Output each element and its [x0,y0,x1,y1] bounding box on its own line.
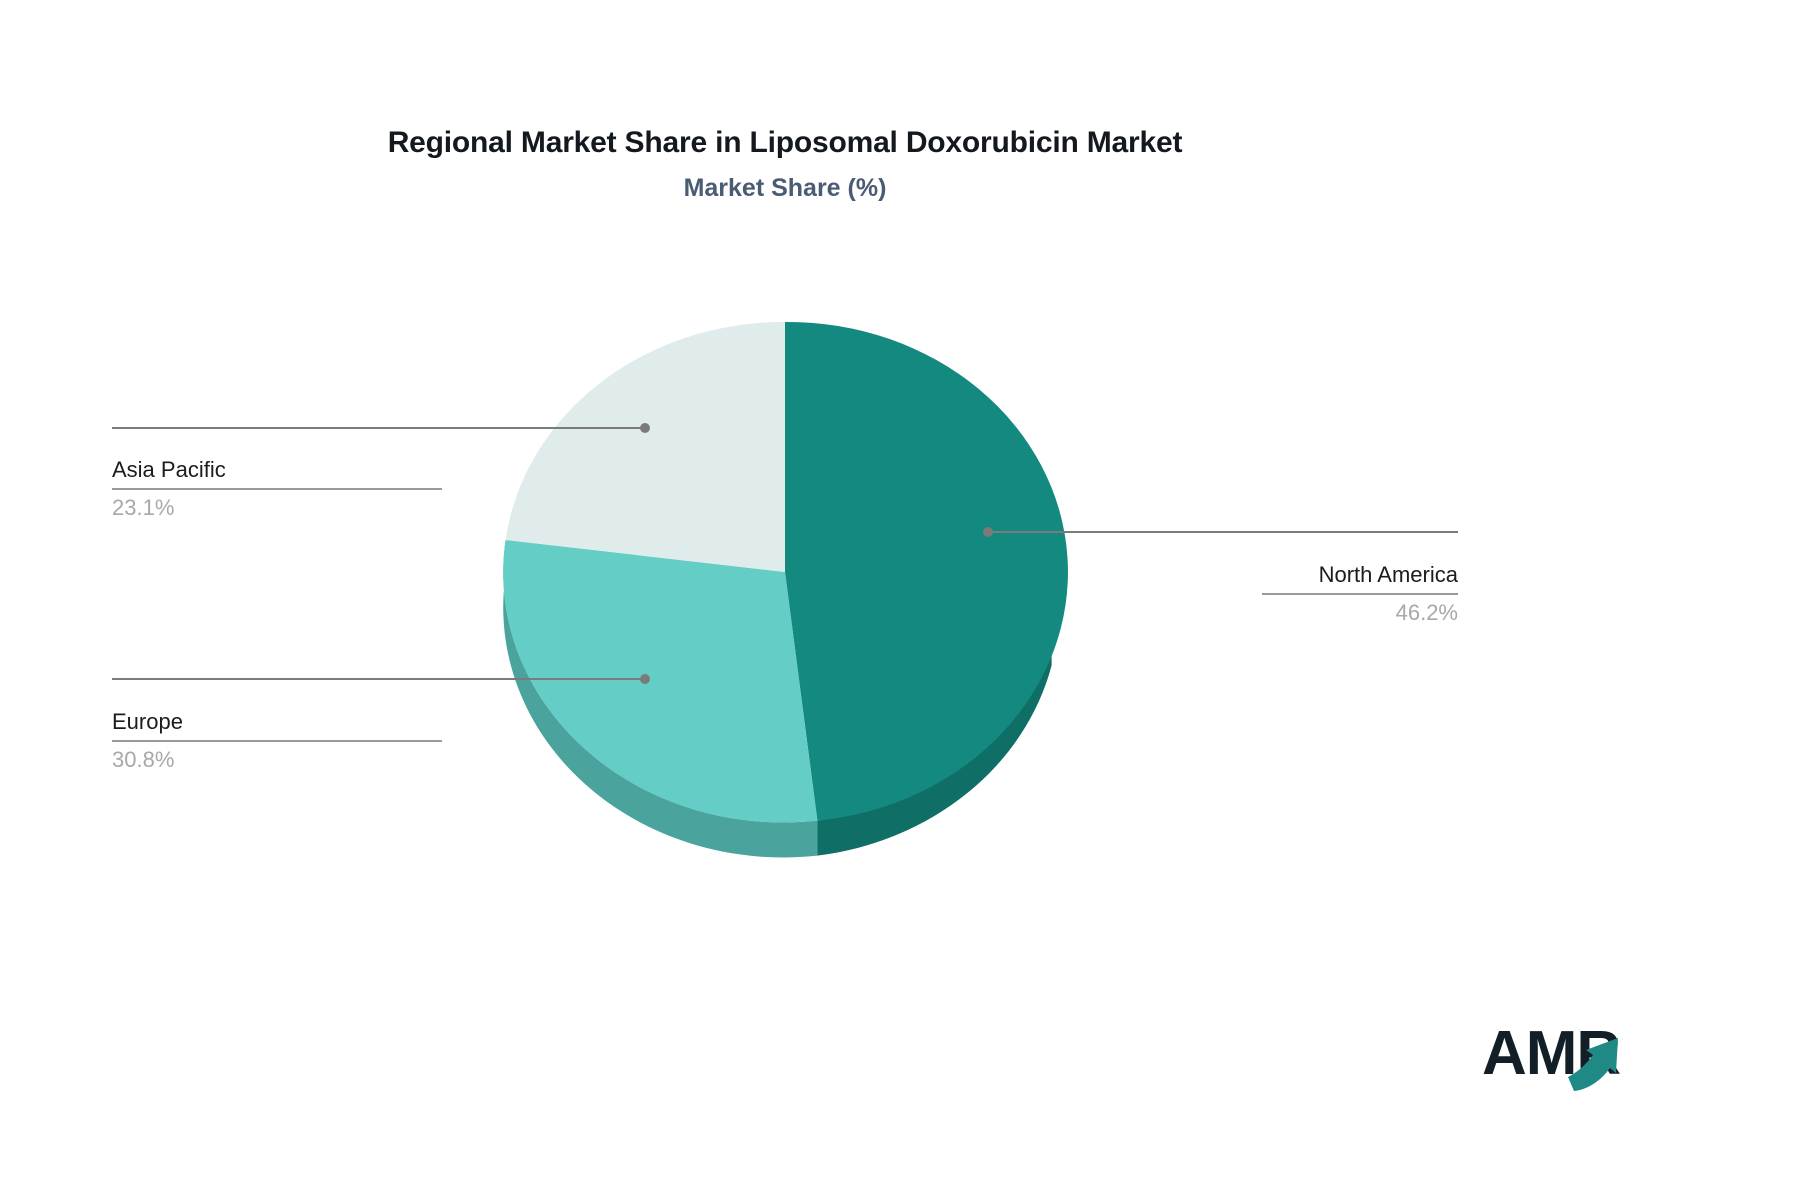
amr-logo[interactable]: AMR [1482,1016,1662,1096]
pie-slice-north-america[interactable] [785,322,1068,821]
leader-dot-asia-pacific [640,423,650,433]
leader-dot-north-america [983,527,993,537]
pie-slices [503,322,1068,822]
leader-dot-europe [640,674,650,684]
pie-slice-europe[interactable] [503,540,817,822]
pie-slice-asia-pacific[interactable] [506,322,785,572]
chart-canvas: Regional Market Share in Liposomal Doxor… [0,0,1800,1196]
